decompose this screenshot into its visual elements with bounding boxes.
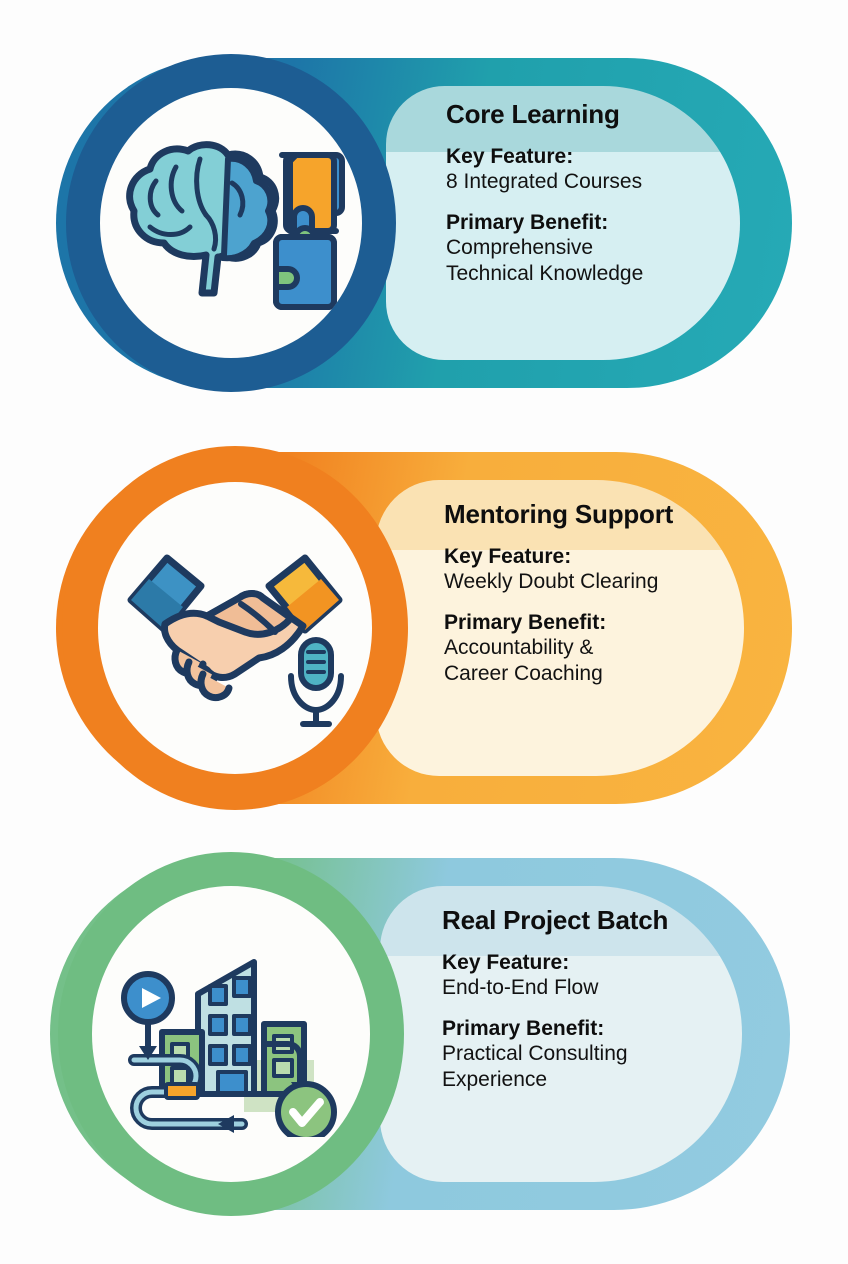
- key-feature-field: Key Feature: Weekly Doubt Clearing: [444, 545, 780, 595]
- key-feature-value: 8 Integrated Courses: [446, 169, 776, 194]
- primary-benefit-label: Primary Benefit:: [446, 211, 776, 236]
- primary-benefit-field: Primary Benefit: Comprehensive Technical…: [446, 211, 776, 286]
- primary-benefit-field: Primary Benefit: Accountability & Career…: [444, 611, 780, 686]
- primary-benefit-label: Primary Benefit:: [442, 1017, 772, 1042]
- key-feature-label: Key Feature:: [444, 545, 780, 570]
- key-feature-label: Key Feature:: [442, 951, 772, 976]
- icon-ring-inner: [100, 88, 362, 358]
- office-building-workflow-icon: [114, 932, 349, 1137]
- key-feature-label: Key Feature:: [446, 145, 776, 170]
- icon-ring-real-project-batch: [58, 852, 404, 1216]
- card-text-block: Core Learning Key Feature: 8 Integrated …: [446, 100, 776, 286]
- primary-benefit-label: Primary Benefit:: [444, 611, 780, 636]
- primary-benefit-value: Accountability & Career Coaching: [444, 635, 780, 685]
- feature-card-core-learning[interactable]: Core Learning Key Feature: 8 Integrated …: [56, 58, 792, 388]
- key-feature-field: Key Feature: End-to-End Flow: [442, 951, 772, 1001]
- card-text-block: Real Project Batch Key Feature: End-to-E…: [442, 906, 772, 1092]
- key-feature-value: Weekly Doubt Clearing: [444, 569, 780, 594]
- icon-ring-inner: [98, 482, 372, 774]
- primary-benefit-value: Practical Consulting Experience: [442, 1041, 772, 1091]
- primary-benefit-field: Primary Benefit: Practical Consulting Ex…: [442, 1017, 772, 1092]
- brain-and-puzzle-icon: [106, 123, 356, 323]
- feature-card-real-project-batch[interactable]: Real Project Batch Key Feature: End-to-E…: [50, 858, 790, 1210]
- infographic-board: Core Learning Key Feature: 8 Integrated …: [0, 0, 848, 1264]
- icon-ring-mentoring-support: [62, 446, 408, 810]
- key-feature-field: Key Feature: 8 Integrated Courses: [446, 145, 776, 195]
- card-text-block: Mentoring Support Key Feature: Weekly Do…: [444, 500, 780, 686]
- handshake-and-microphone-icon: [115, 528, 355, 728]
- primary-benefit-value: Comprehensive Technical Knowledge: [446, 235, 776, 285]
- card-title: Core Learning: [446, 100, 776, 129]
- feature-card-mentoring-support[interactable]: Mentoring Support Key Feature: Weekly Do…: [56, 452, 792, 804]
- key-feature-value: End-to-End Flow: [442, 975, 772, 1000]
- card-title: Mentoring Support: [444, 500, 780, 529]
- card-title: Real Project Batch: [442, 906, 772, 935]
- icon-ring-core-learning: [66, 54, 396, 392]
- icon-ring-inner: [92, 886, 370, 1182]
